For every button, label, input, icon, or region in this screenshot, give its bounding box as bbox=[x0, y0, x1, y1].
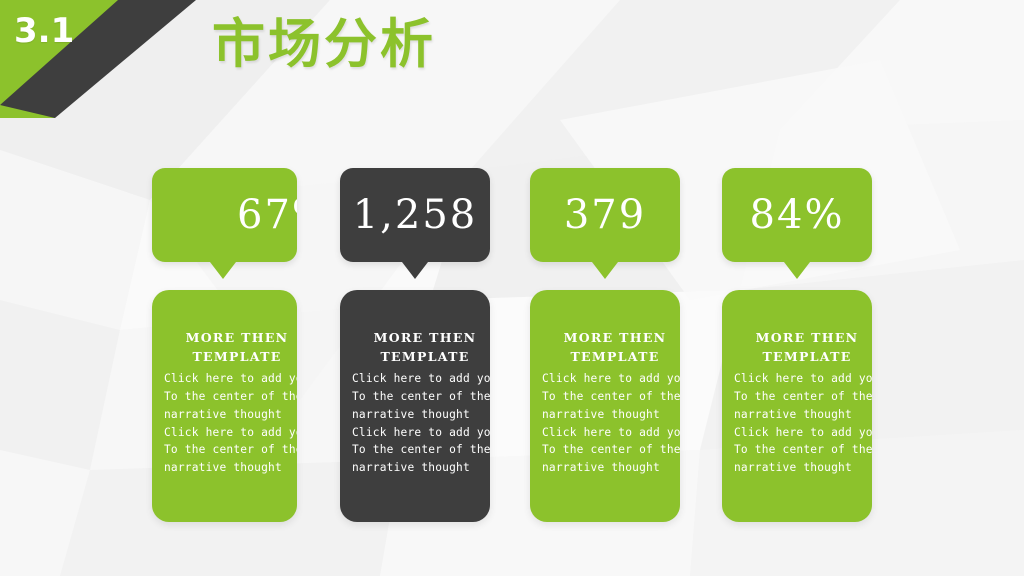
card-heading-4: MORE THEN TEMPLATE bbox=[740, 328, 872, 367]
value-bubble-2[interactable]: 1,258 bbox=[340, 168, 490, 262]
stat-value-2: 1,258 bbox=[353, 195, 478, 235]
card-body-3: Click here to add your text To the cente… bbox=[542, 370, 680, 478]
card-body-1: Click here to add your text To the cente… bbox=[164, 370, 297, 478]
detail-card-2[interactable]: MORE THEN TEMPLATE Click here to add you… bbox=[340, 290, 490, 522]
card-content-4: MORE THEN TEMPLATE Click here to add you… bbox=[734, 328, 872, 477]
card-heading-3: MORE THEN TEMPLATE bbox=[548, 328, 680, 367]
bubble-tail-3 bbox=[592, 262, 618, 279]
bubble-tail-4 bbox=[784, 262, 810, 279]
card-heading-1: MORE THEN TEMPLATE bbox=[170, 328, 297, 367]
card-content-3: MORE THEN TEMPLATE Click here to add you… bbox=[542, 328, 680, 477]
bubble-tail-2 bbox=[402, 262, 428, 279]
stat-column-1[interactable]: 67% MORE THEN TEMPLATE Click here to add… bbox=[152, 168, 297, 262]
detail-card-3[interactable]: MORE THEN TEMPLATE Click here to add you… bbox=[530, 290, 680, 522]
stat-column-4[interactable]: 84% MORE THEN TEMPLATE Click here to add… bbox=[722, 168, 872, 262]
value-bubble-3[interactable]: 379 bbox=[530, 168, 680, 262]
stat-column-3[interactable]: 379 MORE THEN TEMPLATE Click here to add… bbox=[530, 168, 680, 262]
stat-column-2[interactable]: 1,258 MORE THEN TEMPLATE Click here to a… bbox=[340, 168, 490, 262]
stat-value-1: 67% bbox=[237, 195, 297, 235]
detail-card-1[interactable]: MORE THEN TEMPLATE Click here to add you… bbox=[152, 290, 297, 522]
value-bubble-1[interactable]: 67% bbox=[152, 168, 297, 262]
value-bubble-4[interactable]: 84% bbox=[722, 168, 872, 262]
stat-value-3: 379 bbox=[564, 195, 646, 235]
card-heading-2: MORE THEN TEMPLATE bbox=[358, 328, 490, 367]
stats-columns: 67% MORE THEN TEMPLATE Click here to add… bbox=[0, 0, 1024, 576]
detail-card-4[interactable]: MORE THEN TEMPLATE Click here to add you… bbox=[722, 290, 872, 522]
card-content-2: MORE THEN TEMPLATE Click here to add you… bbox=[352, 328, 490, 477]
bubble-tail-1 bbox=[210, 262, 236, 279]
card-content-1: MORE THEN TEMPLATE Click here to add you… bbox=[164, 328, 297, 477]
stat-value-4: 84% bbox=[750, 195, 845, 235]
slide: 3.1 市场分析 67% MORE THEN TEMPLATE Click he… bbox=[0, 0, 1024, 576]
section-number: 3.1 bbox=[14, 14, 74, 48]
card-body-4: Click here to add your text To the cente… bbox=[734, 370, 872, 478]
card-body-2: Click here to add your text To the cente… bbox=[352, 370, 490, 478]
